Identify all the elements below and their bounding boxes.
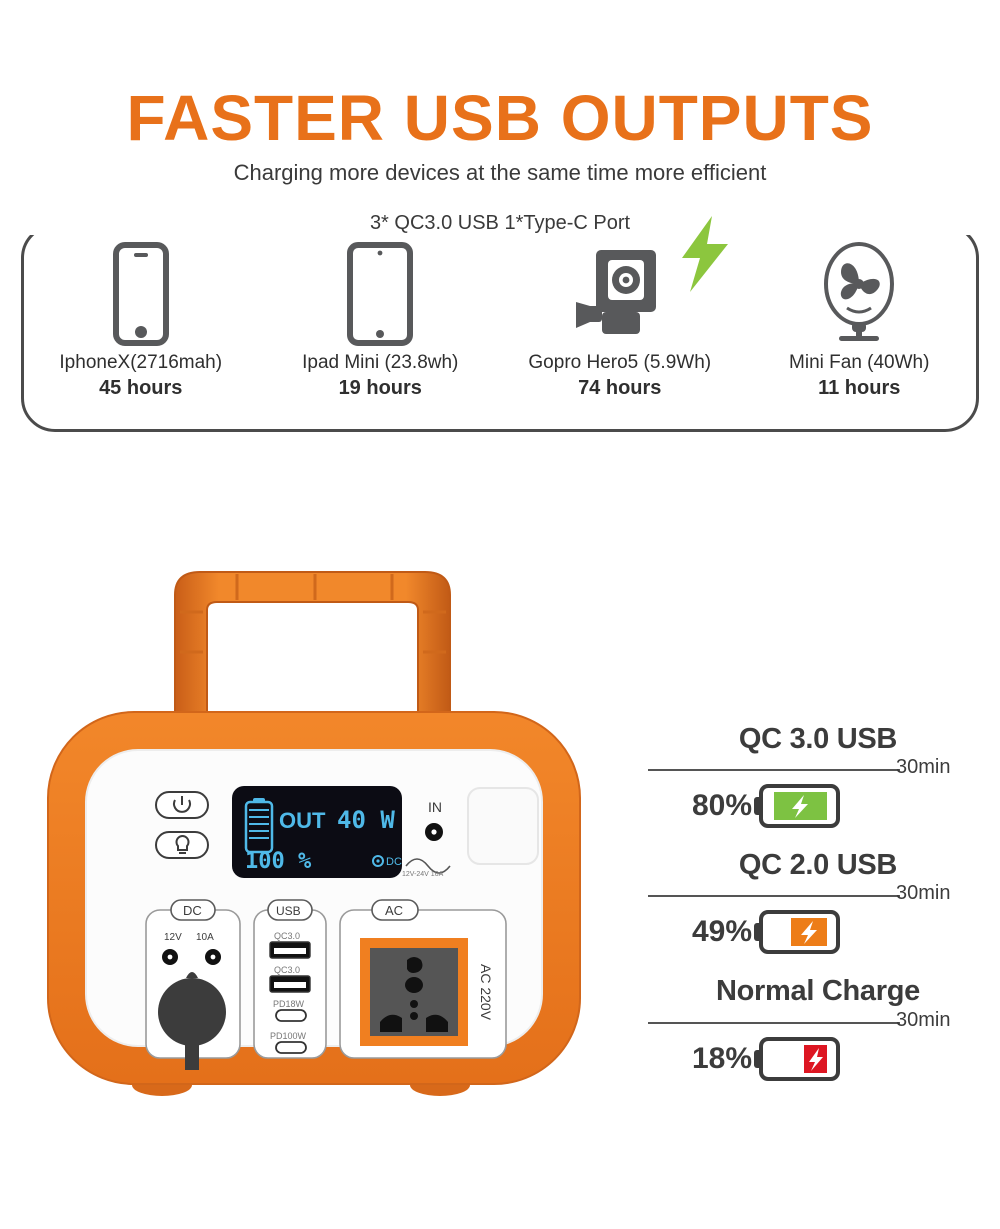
devices-card-caption: 3* QC3.0 USB 1*Type-C Port (0, 212, 1000, 235)
device-name: IphoneX(2716mah) (59, 352, 222, 374)
devices-card-caption-text: 3* QC3.0 USB 1*Type-C Port (360, 212, 640, 234)
charge-title: QC 2.0 USB (648, 848, 988, 882)
usb-port-label-3: PD18W (273, 999, 305, 1009)
input-spec: 12V-24V 10A (402, 871, 444, 878)
ac-panel: AC AC 220V (340, 900, 506, 1058)
smartphone-icon (113, 240, 169, 348)
input-label: IN (428, 799, 442, 815)
charge-block-normal: Normal Charge 30min 18% (648, 974, 988, 1082)
page-subtitle: Charging more devices at the same time m… (0, 160, 1000, 186)
usb-port-label-1: QC3.0 (274, 931, 300, 941)
battery-icon-qc30 (754, 784, 840, 828)
lightning-bolt-icon (676, 216, 734, 292)
action-camera-icon (572, 240, 668, 348)
device-name: Mini Fan (40Wh) (789, 352, 929, 374)
duration-label: 30min (896, 1009, 950, 1032)
rule-line (648, 1022, 900, 1024)
device-hours: 45 hours (99, 377, 182, 400)
devices-list: IphoneX(2716mah) 45 hours Ipad Mini (23.… (21, 240, 979, 426)
marketing-page: FASTER USB OUTPUTS Charging more devices… (0, 0, 1000, 1229)
usb-panel-label: USB (276, 904, 301, 918)
charge-row: 80% (648, 782, 988, 830)
charge-block-qc20: QC 2.0 USB 30min 49% (648, 848, 988, 956)
ac-voltage-label: AC 220V (478, 964, 494, 1021)
battery-icon-qc20 (754, 910, 840, 954)
power-station-illustration: OUT 40 W 100 % DC IN 12V-24V 10A (40, 560, 640, 1100)
usb-port-label-4: PD100W (270, 1031, 307, 1041)
duration-label: 30min (896, 756, 950, 779)
dc-panel: DC 12V 10A (146, 900, 240, 1070)
charge-rule: 30min (648, 1009, 988, 1035)
light-button (156, 832, 208, 858)
device-name: Ipad Mini (23.8wh) (302, 352, 458, 374)
tablet-icon (347, 240, 413, 348)
device-item-fan: Mini Fan (40Wh) 11 hours (740, 240, 980, 426)
device-name: Gopro Hero5 (5.9Wh) (528, 352, 711, 374)
charge-percent: 18% (666, 1042, 752, 1076)
charge-title: QC 3.0 USB (648, 722, 988, 756)
page-title: FASTER USB OUTPUTS (0, 86, 1000, 150)
dc-panel-label: DC (183, 903, 202, 918)
device-hours: 74 hours (578, 377, 661, 400)
device-item-ipad: Ipad Mini (23.8wh) 19 hours (261, 240, 501, 426)
device-hours: 11 hours (818, 377, 900, 400)
dc-amp-label: 10A (196, 932, 214, 943)
dc-volt-label: 12V (164, 932, 182, 943)
charge-row: 49% (648, 908, 988, 956)
rule-line (648, 769, 900, 771)
lcd-dc-label: DC (386, 856, 402, 868)
charge-rule: 30min (648, 882, 988, 908)
usb-port-label-2: QC3.0 (274, 965, 300, 975)
lcd-watts: 40 W (337, 806, 395, 834)
fan-icon (813, 240, 905, 348)
usb-c-port-icon (276, 1042, 306, 1053)
charge-comparison-chart: QC 3.0 USB 30min 80% QC 2.0 USB (648, 722, 988, 1101)
battery-icon-normal (754, 1037, 840, 1081)
usb-c-port-icon (276, 1010, 306, 1021)
device-item-iphone: IphoneX(2716mah) 45 hours (21, 240, 261, 426)
charge-title: Normal Charge (648, 974, 988, 1008)
lcd-percent: 100 % (245, 849, 312, 874)
lcd-display: OUT 40 W 100 % DC (232, 786, 402, 878)
charge-block-qc30: QC 3.0 USB 30min 80% (648, 722, 988, 830)
rule-line (648, 895, 900, 897)
charge-percent: 80% (666, 789, 752, 823)
power-button (156, 792, 208, 818)
charge-rule: 30min (648, 756, 988, 782)
side-panel-block (468, 788, 538, 864)
lcd-out-label: OUT (279, 808, 326, 833)
duration-label: 30min (896, 882, 950, 905)
ac-panel-label: AC (385, 903, 403, 918)
carry-handle (175, 572, 450, 735)
usb-panel: USB QC3.0 QC3.0 PD18W PD100W (254, 900, 326, 1058)
charge-row: 18% (648, 1035, 988, 1083)
charge-percent: 49% (666, 915, 752, 949)
device-hours: 19 hours (339, 377, 422, 400)
